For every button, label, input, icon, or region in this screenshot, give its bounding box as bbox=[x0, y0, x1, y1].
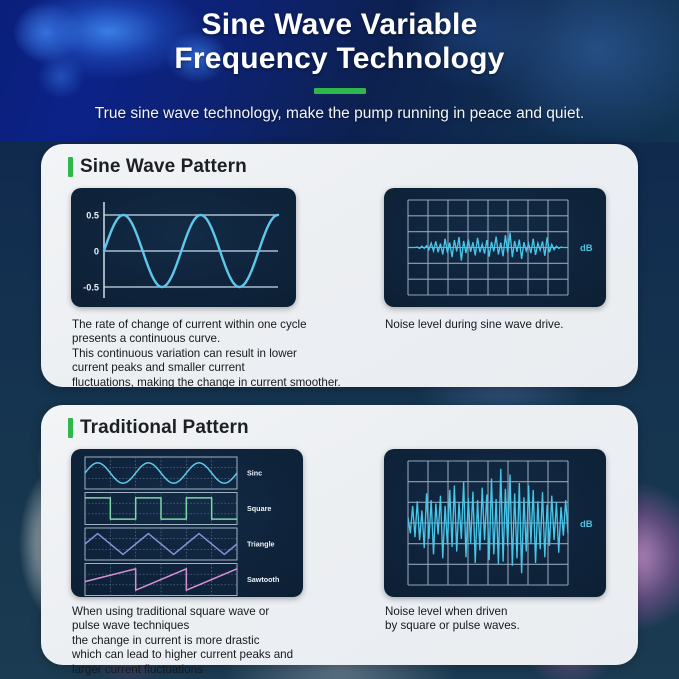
infographic-page: Sine Wave Variable Frequency Technology … bbox=[0, 0, 679, 679]
sine-noise-plot: dB bbox=[384, 188, 606, 307]
waveform-label-square: Square bbox=[247, 504, 271, 513]
section-accent-bar-icon bbox=[68, 157, 73, 177]
page-title-line-2: Frequency Technology bbox=[0, 42, 679, 76]
sine-right-caption: Noise level during sine wave drive. bbox=[385, 318, 625, 332]
sine-wave-plot: 0.5 0 -0.5 bbox=[71, 188, 296, 307]
y-tick-label-0: 0.5 bbox=[86, 211, 99, 221]
waveform-triangle bbox=[85, 534, 237, 555]
page-title: Sine Wave Variable Frequency Technology bbox=[0, 8, 679, 76]
waveform-label-sinc: Sinc bbox=[247, 469, 262, 478]
traditional-right-caption: Noise level when driven by square or pul… bbox=[385, 605, 615, 634]
traditional-waveforms-plot: SincSquareTriangleSawtooth bbox=[71, 449, 303, 597]
traditional-pattern-card: Traditional Pattern SincSquareTriangleSa… bbox=[41, 405, 638, 665]
page-subtitle: True sine wave technology, make the pump… bbox=[0, 104, 679, 124]
section-accent-bar-icon bbox=[68, 418, 73, 438]
sine-section-header: Sine Wave Pattern bbox=[68, 156, 247, 178]
traditional-left-caption: When using traditional square wave or pu… bbox=[72, 605, 362, 677]
page-title-line-1: Sine Wave Variable bbox=[0, 8, 679, 42]
y-tick-label-1: 0 bbox=[94, 247, 99, 257]
waveform-sinc bbox=[85, 463, 237, 483]
waveform-label-triangle: Triangle bbox=[247, 540, 275, 549]
waveform-square bbox=[85, 498, 237, 519]
waveform-label-sawtooth: Sawtooth bbox=[247, 575, 279, 584]
sine-wave-chart: 0.5 0 -0.5 bbox=[71, 188, 296, 307]
y-tick-label-2: -0.5 bbox=[83, 283, 99, 293]
waveform-sawtooth bbox=[85, 569, 237, 590]
traditional-section-header: Traditional Pattern bbox=[68, 417, 249, 439]
traditional-waveforms-chart: SincSquareTriangleSawtooth bbox=[71, 449, 303, 597]
sine-noise-chart: dB bbox=[384, 188, 606, 307]
traditional-section-title: Traditional Pattern bbox=[80, 417, 249, 439]
square-noise-plot: dB bbox=[384, 449, 606, 597]
db-unit-label-2: dB bbox=[580, 519, 593, 530]
sine-wave-pattern-card: Sine Wave Pattern 0.5 0 -0.5 bbox=[41, 144, 638, 387]
sine-section-title: Sine Wave Pattern bbox=[80, 156, 247, 178]
db-unit-label-1: dB bbox=[580, 243, 593, 254]
sine-left-caption: The rate of change of current within one… bbox=[72, 318, 362, 390]
header-banner: Sine Wave Variable Frequency Technology … bbox=[0, 0, 679, 142]
square-noise-chart: dB bbox=[384, 449, 606, 597]
title-accent-bar bbox=[314, 88, 366, 94]
